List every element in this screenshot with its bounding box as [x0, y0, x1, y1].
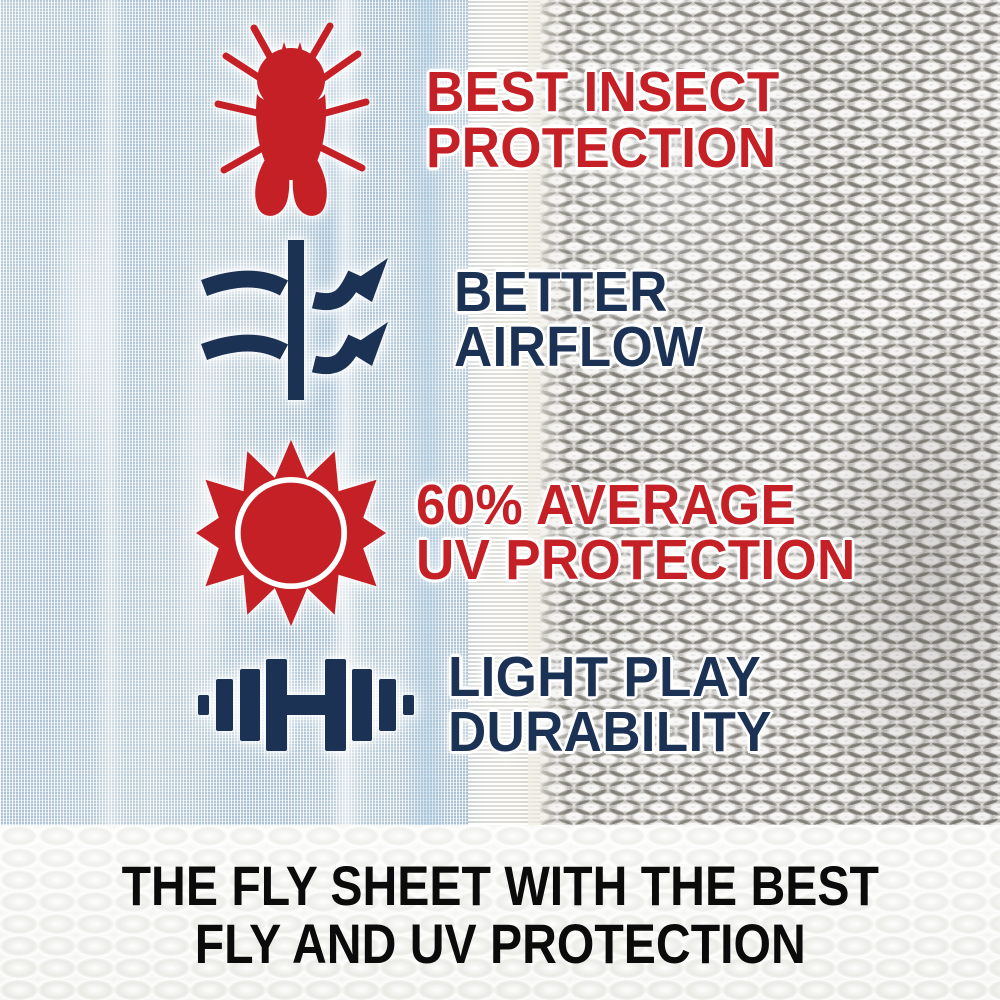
- feature-row-airflow: BETTER AIRFLOW: [196, 240, 722, 400]
- product-feature-poster: BEST INSECT PROTECTION: [0, 0, 1000, 1000]
- feature-row-insect: BEST INSECT PROTECTION: [196, 18, 806, 223]
- fly-icon: [196, 18, 386, 223]
- feature-row-durability: LIGHT PLAY DURABILITY: [196, 650, 796, 761]
- feature-list: BEST INSECT PROTECTION: [0, 0, 1000, 825]
- feature-label-airflow: BETTER AIRFLOW: [454, 265, 703, 376]
- sun-icon: [196, 438, 386, 628]
- feature-label-durability: LIGHT PLAY DURABILITY: [448, 650, 772, 761]
- feature-row-uv: 60% AVERAGE UV PROTECTION: [196, 438, 889, 628]
- feature-label-insect: BEST INSECT PROTECTION: [426, 65, 780, 176]
- dumbbell-icon: [196, 657, 416, 753]
- feature-label-uv: 60% AVERAGE UV PROTECTION: [416, 478, 856, 589]
- bottom-banner: THE FLY SHEET WITH THE BEST FLY AND UV P…: [0, 825, 1000, 1000]
- airflow-icon: [196, 240, 406, 400]
- banner-headline: THE FLY SHEET WITH THE BEST FLY AND UV P…: [121, 857, 878, 971]
